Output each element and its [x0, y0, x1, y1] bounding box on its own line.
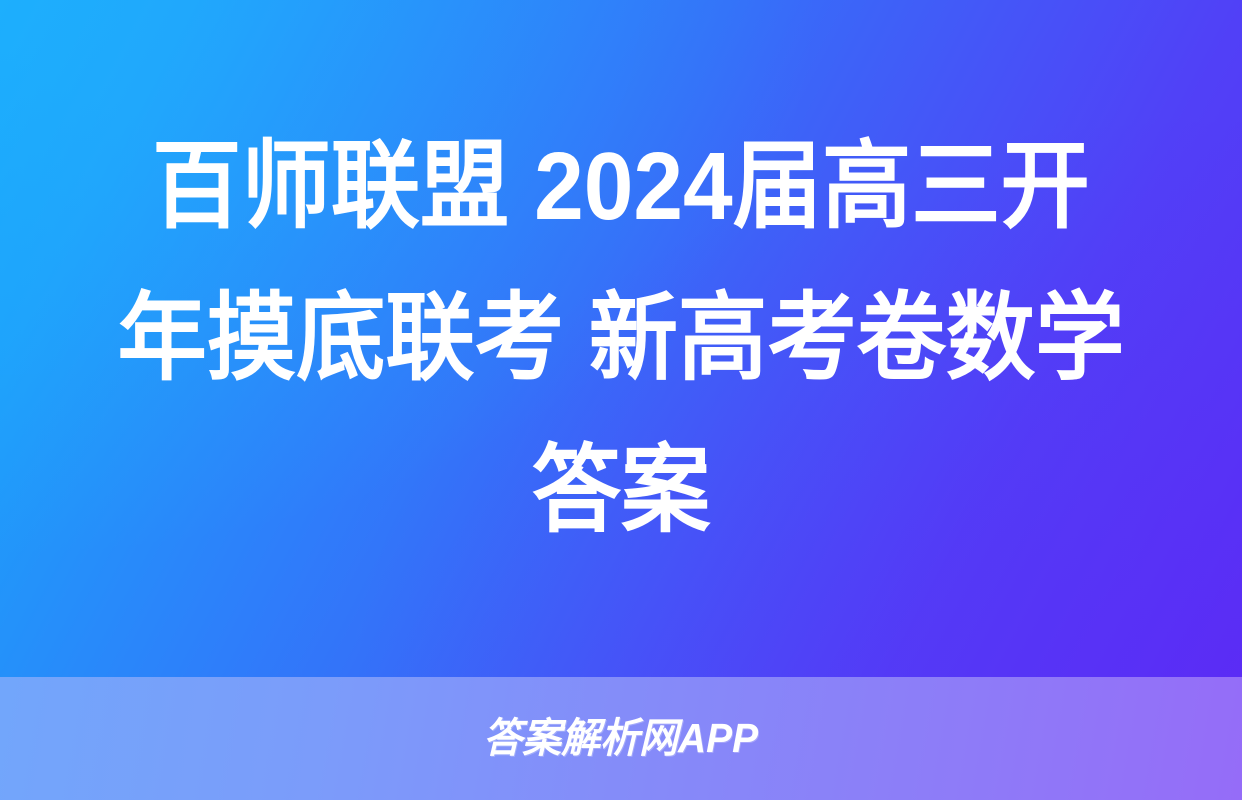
cover-card-screen: 百师联盟 2024届高三开年摸底联考 新高考卷数学答案 答案解析网APP	[0, 0, 1242, 800]
page-title: 百师联盟 2024届高三开年摸底联考 新高考卷数学答案	[114, 111, 1128, 567]
watermark-band: 答案解析网APP	[0, 677, 1242, 800]
gradient-hero-banner: 百师联盟 2024届高三开年摸底联考 新高考卷数学答案	[0, 0, 1242, 677]
watermark-text: 答案解析网APP	[484, 718, 759, 759]
